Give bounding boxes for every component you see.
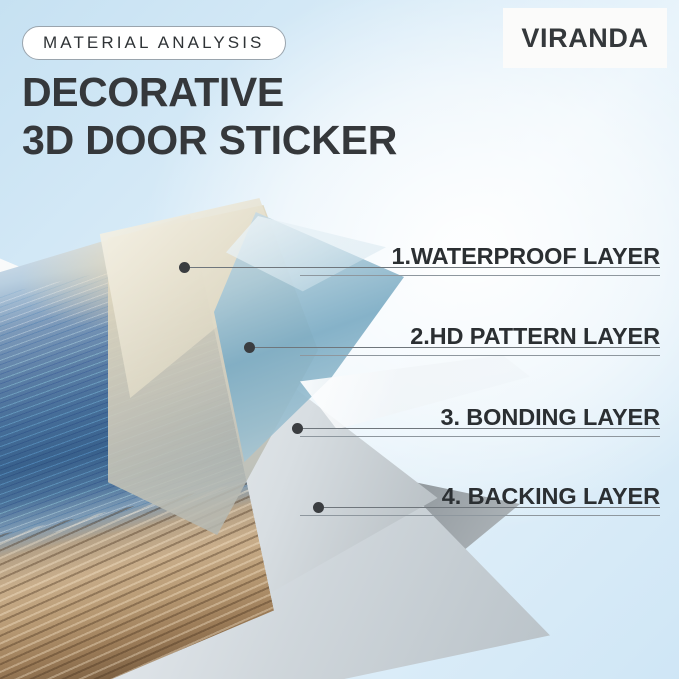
brand-logo: VIRANDA <box>503 8 667 68</box>
page-title-line-1: DECORATIVE <box>22 68 397 116</box>
page-title-line-2: 3D DOOR STICKER <box>22 116 397 164</box>
material-analysis-badge: MATERIAL ANALYSIS <box>22 26 286 60</box>
page-title: DECORATIVE 3D DOOR STICKER <box>22 68 397 164</box>
layer-label-hd-pattern: 2.HD PATTERN LAYER <box>300 323 660 356</box>
infographic-canvas: MATERIAL ANALYSIS DECORATIVE 3D DOOR STI… <box>0 0 679 679</box>
layer-label-backing: 4. BACKING LAYER <box>300 483 660 516</box>
layer-label-bonding: 3. BONDING LAYER <box>300 404 660 437</box>
callout-dot-hd-pattern-layer <box>244 342 255 353</box>
brand-logo-text: VIRANDA <box>521 23 648 54</box>
callout-dot-waterproof-layer <box>179 262 190 273</box>
layer-label-waterproof: 1.WATERPROOF LAYER <box>300 243 660 276</box>
